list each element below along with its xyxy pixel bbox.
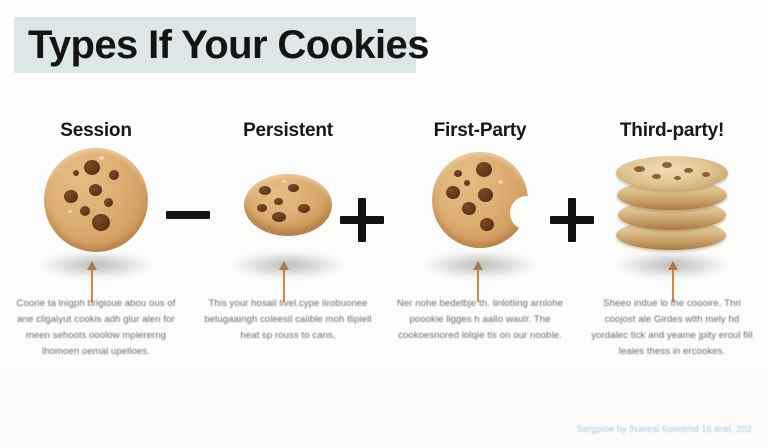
column-third-party: Third-party! Sheeo i [576,108,768,418]
cookie-shadow [232,252,344,278]
cookie-type-columns: Session Coorie ta lnigph brigioue abou o… [0,108,768,418]
column-heading-first-party: First-Party [434,120,527,142]
small-flat-cookie-icon [192,148,384,278]
cookie-body [44,148,148,252]
cookie-shadow [40,252,152,278]
column-body-third-party: Sheeo indue lo the coooire. Thri coojost… [588,296,756,360]
cookie-bite-cutout [510,196,544,230]
column-session: Session Coorie ta lnigph brigioue abou o… [0,108,192,418]
column-first-party: First-Party Ner nohe bedelbje th. linlot… [384,108,576,418]
single-round-cookie-icon [0,148,192,278]
column-heading-session: Session [60,120,131,142]
cookie-stack [616,154,728,254]
bitten-cookie-icon [384,148,576,278]
column-persistent: Persistent This your hosail livel.cype l… [192,108,384,418]
column-body-session: Coorie ta lnigph brigioue abou ous of an… [12,296,180,360]
cookie-shadow [616,252,728,278]
cookie-shadow [424,252,536,278]
page-title: Types If Your Cookies [28,19,448,71]
footer-caption: Sergpioe by llvareal 6onotmd 1א 6rel, 20… [577,424,752,434]
column-body-first-party: Ner nohe bedelbje th. linlotiing arnlohe… [396,296,564,344]
cookie-body [432,152,528,248]
cookie-body [244,174,332,236]
column-heading-persistent: Persistent [243,120,333,142]
cookie-disc-top [616,156,728,190]
poster-canvas: Types If Your Cookies Session [0,0,768,448]
cookie-stack-icon [576,148,768,278]
column-heading-third-party: Third-party! [620,120,724,142]
column-body-persistent: This your hosail livel.cype lirobuonee b… [204,296,372,344]
